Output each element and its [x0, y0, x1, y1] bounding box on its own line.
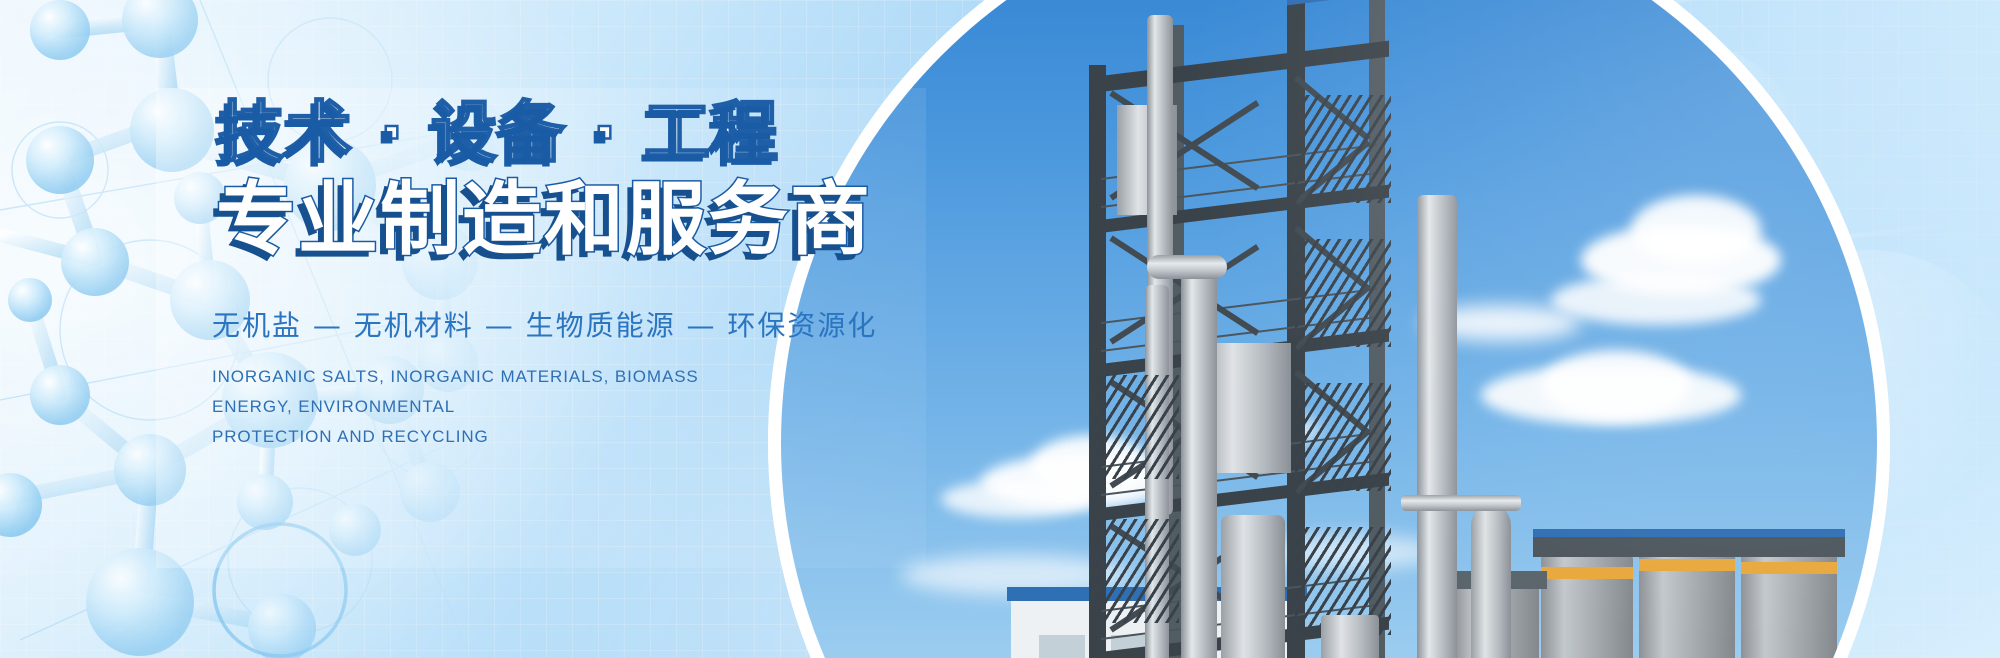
banner-copy: 技术 · 设备 · 工程 专业制造和服务商 无机盐 — 无机材料 — 生物质能源… [212, 100, 1002, 451]
subtitle-chinese: 无机盐 — 无机材料 — 生物质能源 — 环保资源化 [212, 304, 1002, 344]
headline-line-1: 技术 · 设备 · 工程 [212, 100, 1002, 166]
subtitle-english-line-1: INORGANIC SALTS, INORGANIC MATERIALS, BI… [212, 362, 752, 422]
headline-line-2: 专业制造和服务商 [212, 180, 1002, 260]
vertical-process-column [1417, 195, 1457, 658]
subtitle-english: INORGANIC SALTS, INORGANIC MATERIALS, BI… [212, 362, 752, 451]
distillation-tower-structure [1081, 0, 1411, 658]
subtitle-english-line-2: PROTECTION AND RECYCLING [212, 422, 752, 452]
hero-banner: 技术 · 设备 · 工程 专业制造和服务商 无机盐 — 无机材料 — 生物质能源… [0, 0, 2000, 658]
